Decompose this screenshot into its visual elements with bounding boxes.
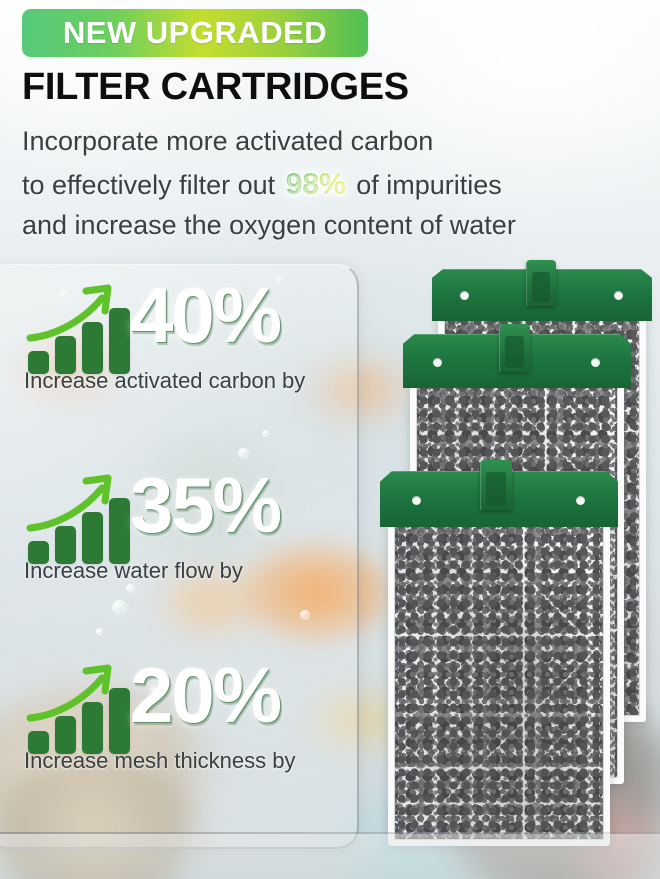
stat-caption: Increase activated carbon by [24,368,305,394]
bar-4 [109,308,130,374]
bar-4 [109,688,130,754]
stat-caption: Increase mesh thickness by [24,748,295,774]
stat-caption: Increase water flow by [24,558,243,584]
page-title: FILTER CARTRIDGES [22,66,409,109]
subtitle-line-2: to effectively filter out 98% of impurit… [22,168,502,202]
stat-row-activated-carbon: 40% Increase activated carbon by [22,282,352,374]
product-infographic: NEW UPGRADED FILTER CARTRIDGES Incorpora… [0,0,660,879]
bar-chart-growth-icon [22,472,140,564]
subtitle-line-2-post: of impurities [356,170,502,200]
cartridge-frame [380,471,618,527]
subtitle-line-2-pre: to effectively filter out [22,170,275,200]
subtitle-line-1: Incorporate more activated carbon [22,126,433,157]
bars-group [26,498,138,564]
stat-row-mesh-thickness: 20% Increase mesh thickness by [22,662,352,754]
bar-4 [109,498,130,564]
stat-row-water-flow: 35% Increase water flow by [22,472,352,564]
badge-label: NEW UPGRADED [22,9,368,57]
impurity-percent-highlight: 98% [283,168,349,201]
bar-chart-growth-icon [22,662,140,754]
bar-chart-growth-icon [22,282,140,374]
new-upgraded-badge: NEW UPGRADED [22,9,368,57]
bar-3 [82,512,103,564]
subtitle-line-3: and increase the oxygen content of water [22,210,516,241]
bar-3 [82,322,103,374]
bars-group [26,688,138,754]
cartridge-frame [432,269,652,321]
cartridge-frame [403,334,631,388]
stat-value: 40% [130,276,280,354]
bar-3 [82,702,103,754]
bottom-strip [0,834,660,879]
stat-value: 20% [130,656,280,734]
bars-group [26,308,138,374]
stat-value: 35% [130,466,280,544]
